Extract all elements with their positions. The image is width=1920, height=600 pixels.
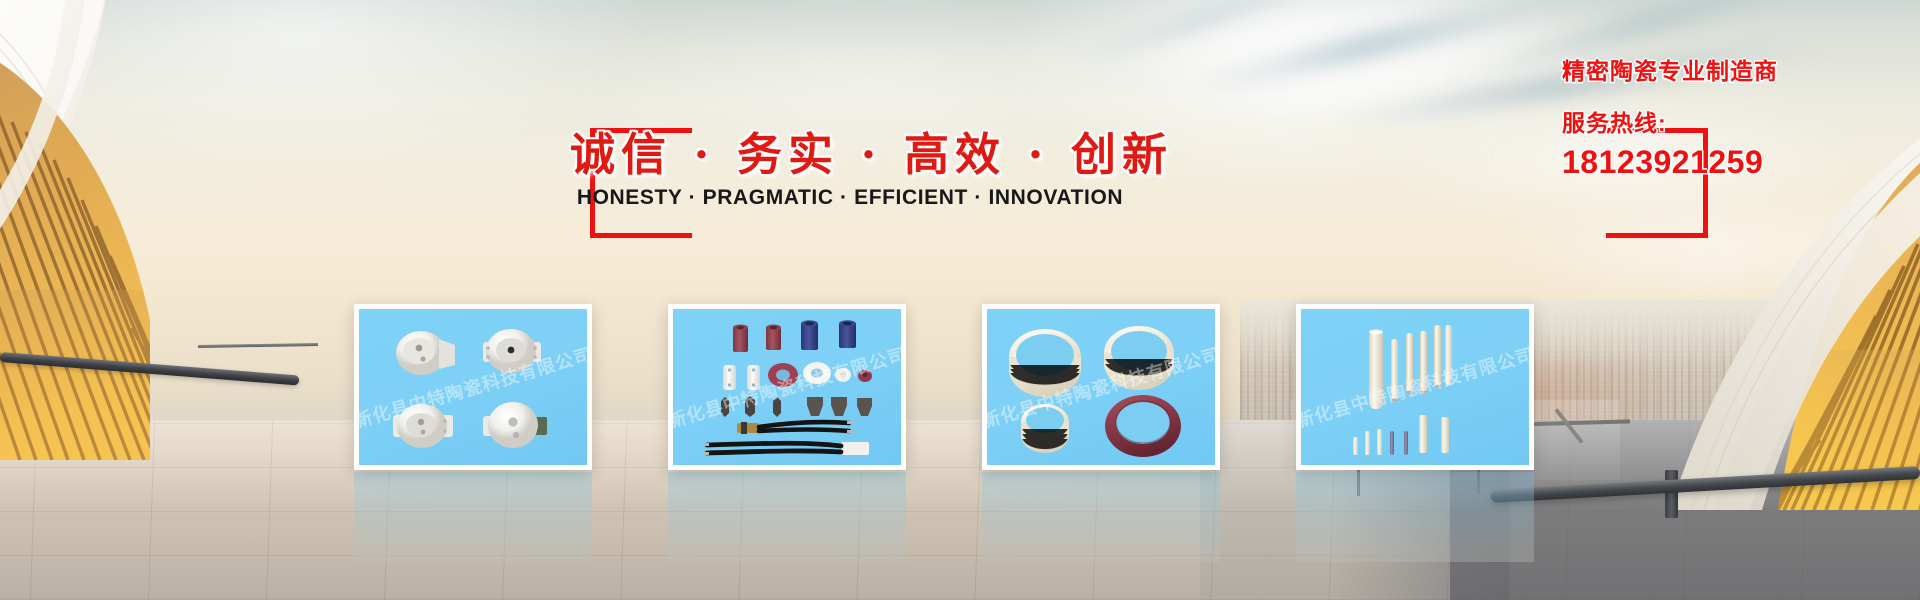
- lamp-holder-bracket: [393, 404, 453, 448]
- tube-row: [733, 320, 856, 352]
- ceramic-rod-5: [1445, 325, 1452, 385]
- panel-4-products: [1301, 309, 1529, 465]
- ivory-ring-small: [1021, 404, 1069, 453]
- product-panel-2[interactable]: 新化县中特陶瓷科技有限公司: [668, 304, 906, 470]
- small-rod-1: [1353, 437, 1358, 455]
- wire-assembly-brass: [737, 421, 853, 434]
- company-tagline: 精密陶瓷专业制造商: [1562, 52, 1902, 86]
- rod-group-large: [1369, 325, 1452, 409]
- hotline-label: 服务热线:: [1562, 104, 1902, 138]
- connector-row: [807, 397, 872, 416]
- slogan-block: 诚信 · 务实 · 高效 · 创新 HONESTY · PRAGMATIC · …: [590, 128, 1100, 238]
- slogan-chinese: 诚信 · 务实 · 高效 · 创新: [570, 118, 1130, 183]
- ceramic-rod-thick: [1369, 331, 1383, 409]
- wire-assembly-white: [703, 442, 869, 455]
- panel-3-products: [987, 309, 1215, 465]
- plate-ring-row: [723, 362, 872, 390]
- lamp-holder-winged: [483, 329, 541, 373]
- panel-1-products: [359, 309, 587, 465]
- right-railing-post: [1665, 470, 1678, 518]
- slogan-english: HONESTY · PRAGMATIC · EFFICIENT · INNOVA…: [570, 186, 1130, 210]
- ceramic-rod-3: [1420, 331, 1427, 393]
- flat-bar-2: [1441, 417, 1449, 453]
- product-panel-4[interactable]: 新化县中特陶瓷科技有限公司: [1296, 304, 1534, 470]
- ceramic-rod-1: [1391, 339, 1398, 401]
- lamp-holder-round: [483, 402, 547, 448]
- small-rod-2: [1365, 431, 1370, 455]
- ceramic-rod-4: [1434, 325, 1441, 387]
- ivory-ring-medium: [1104, 326, 1174, 390]
- maroon-flat-ring: [1105, 395, 1181, 457]
- product-panel-1[interactable]: 新化县中特陶瓷科技有限公司: [354, 304, 592, 470]
- contact-block: 精密陶瓷专业制造商 服务热线: 18123921259: [1562, 52, 1902, 181]
- product-panel-3[interactable]: 新化县中特陶瓷科技有限公司: [982, 304, 1220, 470]
- rod-group-small: [1353, 429, 1408, 455]
- flat-bar-1: [1419, 415, 1427, 453]
- banner-stage: 诚信 · 务实 · 高效 · 创新 HONESTY · PRAGMATIC · …: [0, 0, 1920, 600]
- ceramic-rod-2: [1406, 333, 1413, 393]
- violet-pin-2: [1404, 431, 1408, 455]
- small-rod-3: [1377, 429, 1382, 455]
- panel-2-products: [673, 309, 901, 465]
- lamp-holder-angled: [396, 331, 455, 375]
- clip-row: [721, 396, 781, 417]
- flat-bar-group: [1419, 415, 1449, 453]
- hotline-phone[interactable]: 18123921259: [1562, 144, 1902, 181]
- violet-pin-1: [1390, 431, 1394, 455]
- ivory-ring-large: [1009, 329, 1081, 397]
